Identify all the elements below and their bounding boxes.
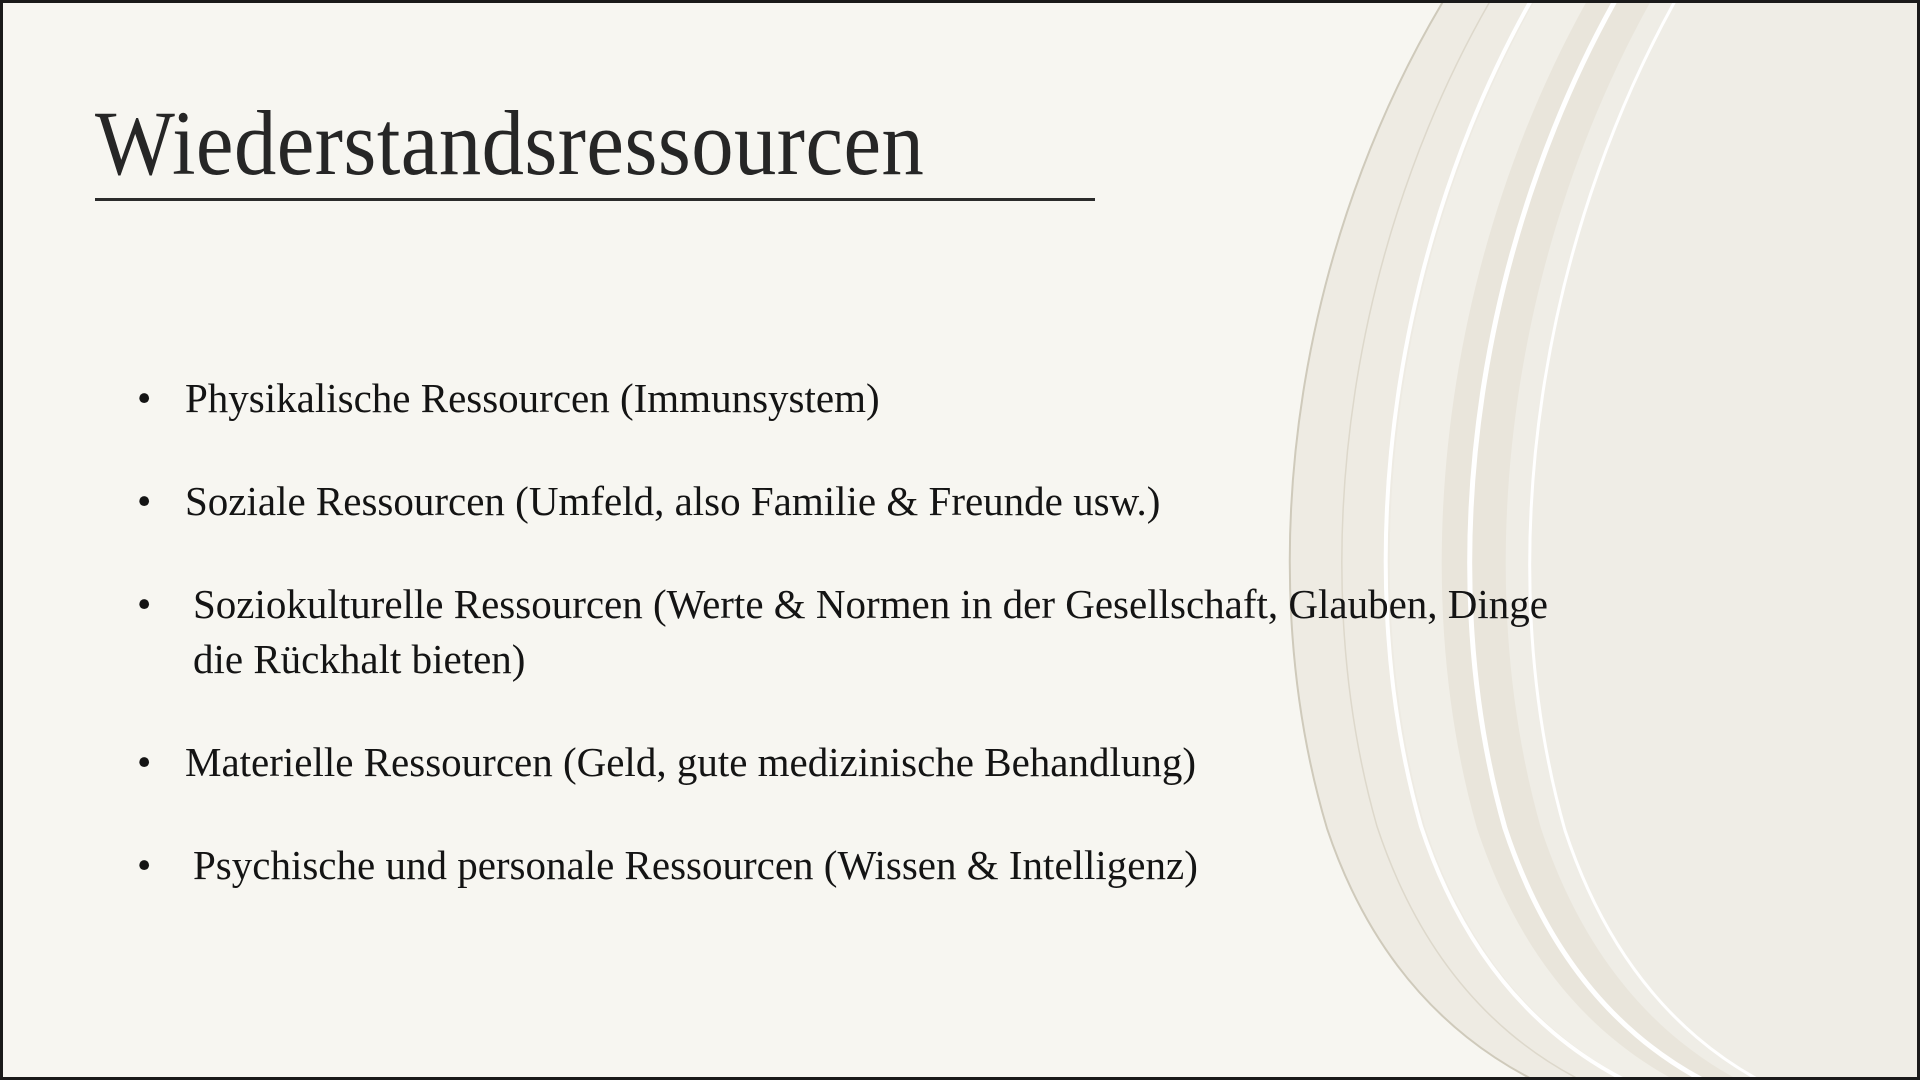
presentation-slide: Wiederstandsressourcen • Physikalische R… [0, 0, 1920, 1080]
bullet-icon: • [137, 371, 151, 426]
bullet-icon: • [137, 735, 151, 790]
bullet-icon: • [137, 577, 151, 632]
ornament-band-core [1506, 3, 1917, 1077]
bullet-icon: • [137, 838, 151, 893]
list-item-label: Soziale Ressourcen (Umfeld, also Familie… [185, 474, 1551, 529]
list-item-label: Materielle Ressourcen (Geld, gute medizi… [185, 735, 1551, 790]
list-item-label: Soziokulturelle Ressourcen (Werte & Norm… [193, 577, 1593, 687]
list-item: • Physikalische Ressourcen (Immunsystem) [131, 371, 1551, 426]
list-item: • Soziokulturelle Ressourcen (Werte & No… [131, 577, 1593, 687]
list-item-label: Physikalische Ressourcen (Immunsystem) [185, 371, 1551, 426]
ornament-highlight-3 [1530, 3, 1915, 1077]
list-item: • Materielle Ressourcen (Geld, gute medi… [131, 735, 1551, 790]
title-underline [95, 198, 1095, 201]
bullet-icon: • [137, 474, 151, 529]
list-item: • Psychische und personale Ressourcen (W… [131, 838, 1551, 893]
title-block: Wiederstandsressourcen [95, 95, 1095, 201]
list-item: • Soziale Ressourcen (Umfeld, also Famil… [131, 474, 1551, 529]
page-title: Wiederstandsressourcen [95, 95, 1015, 192]
list-item-label: Psychische und personale Ressourcen (Wis… [193, 838, 1551, 893]
bullet-list: • Physikalische Ressourcen (Immunsystem)… [131, 371, 1551, 893]
